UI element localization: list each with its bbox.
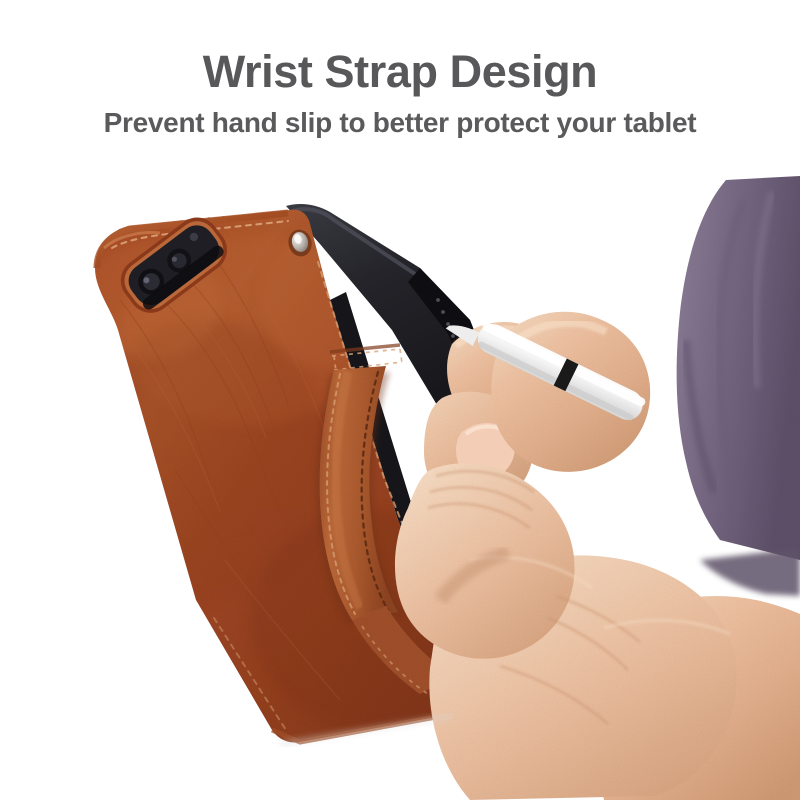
header-block: Wrist Strap Design Prevent hand slip to …: [0, 0, 800, 139]
page-title: Wrist Strap Design: [0, 0, 800, 95]
page-subtitle: Prevent hand slip to better protect your…: [0, 95, 800, 139]
product-marketing-image: Wrist Strap Design Prevent hand slip to …: [0, 0, 800, 800]
